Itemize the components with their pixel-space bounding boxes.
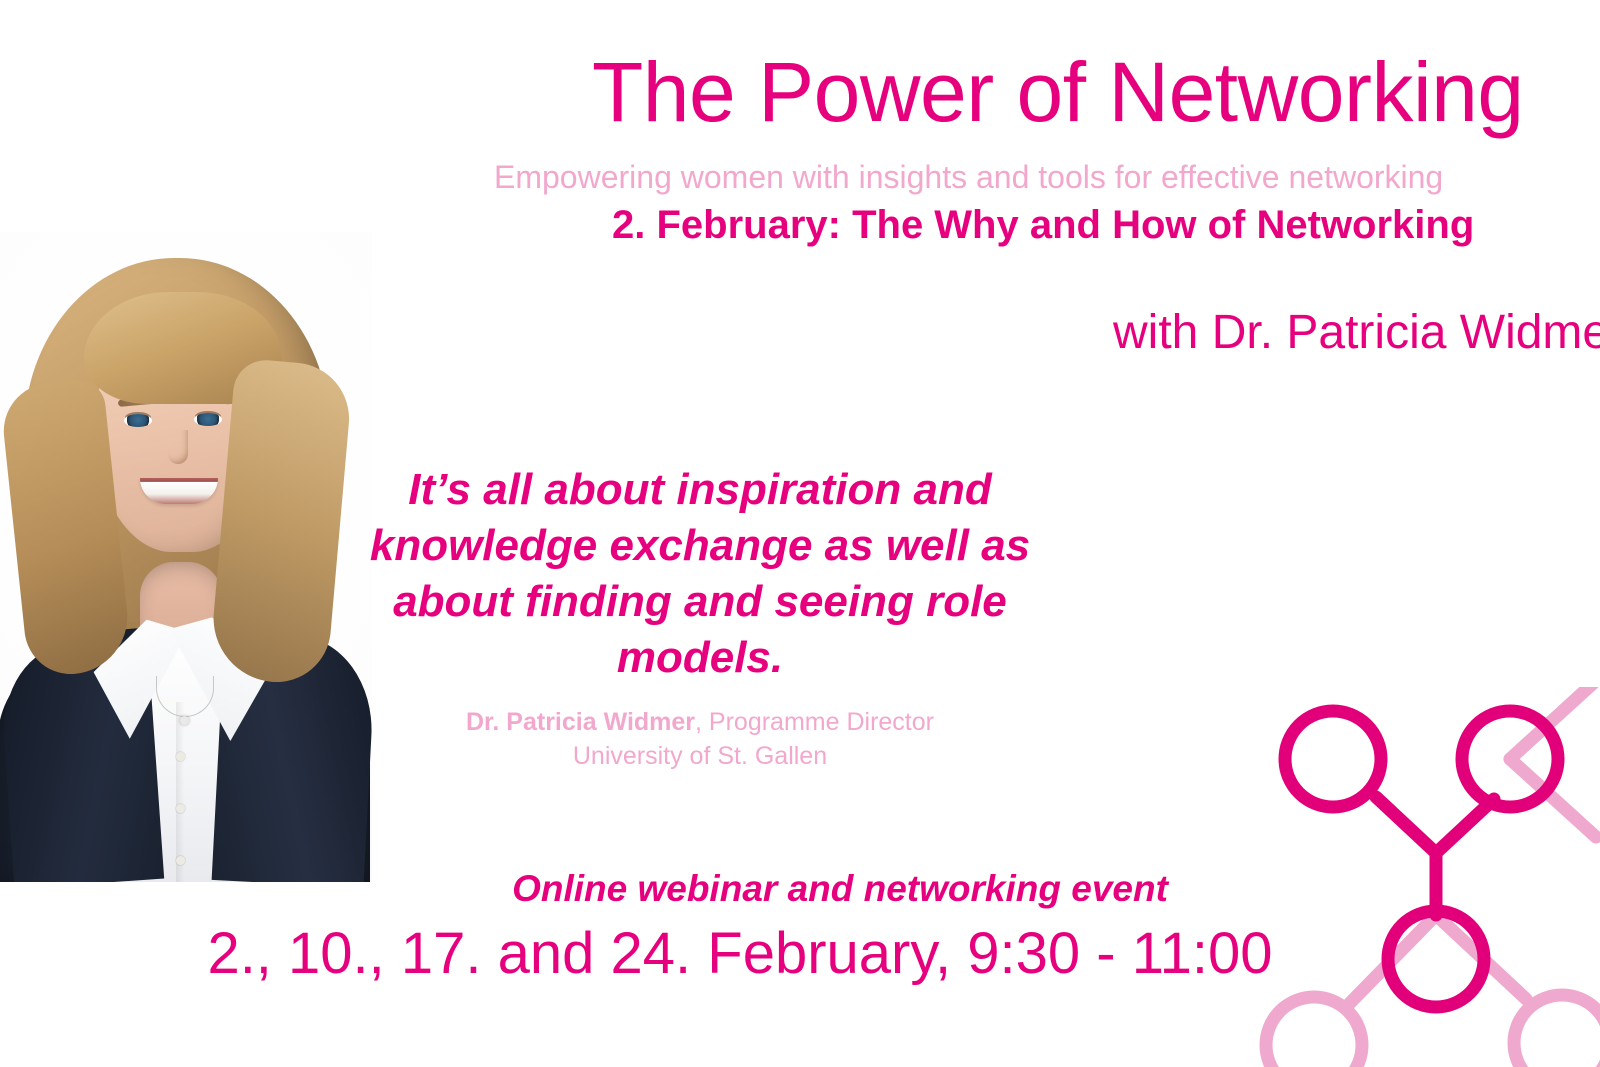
event-type: Online webinar and networking event [340,868,1340,910]
portrait-image [0,232,372,882]
shirt-button [176,856,185,865]
attribution-role: , Programme Director [695,708,934,736]
speaker-portrait [0,232,372,882]
nose [168,430,188,464]
shirt-button [176,752,185,761]
attribution-name: Dr. Patricia Widmer [466,708,695,736]
session-title: 2. February: The Why and How of Networki… [612,203,1474,248]
page-title: The Power of Networking [592,48,1524,136]
page-subtitle: Empowering women with insights and tools… [494,159,1443,196]
shirt-placket [176,702,190,882]
necklace-pendant [180,716,189,725]
eye-right [194,413,222,426]
eye-left [124,414,152,427]
speaker-quote: It’s all about inspiration and knowledge… [340,462,1060,686]
quote-attribution: Dr. Patricia Widmer, Programme Director … [340,706,1060,774]
shirt-button [176,804,185,813]
event-dates: 2., 10., 17. and 24. February, 9:30 - 11… [140,920,1340,987]
speaker-line: with Dr. Patricia Widmer [1113,305,1600,360]
webinar-banner: The Power of Networking Empowering women… [0,0,1600,1067]
attribution-org: University of St. Gallen [573,742,827,770]
